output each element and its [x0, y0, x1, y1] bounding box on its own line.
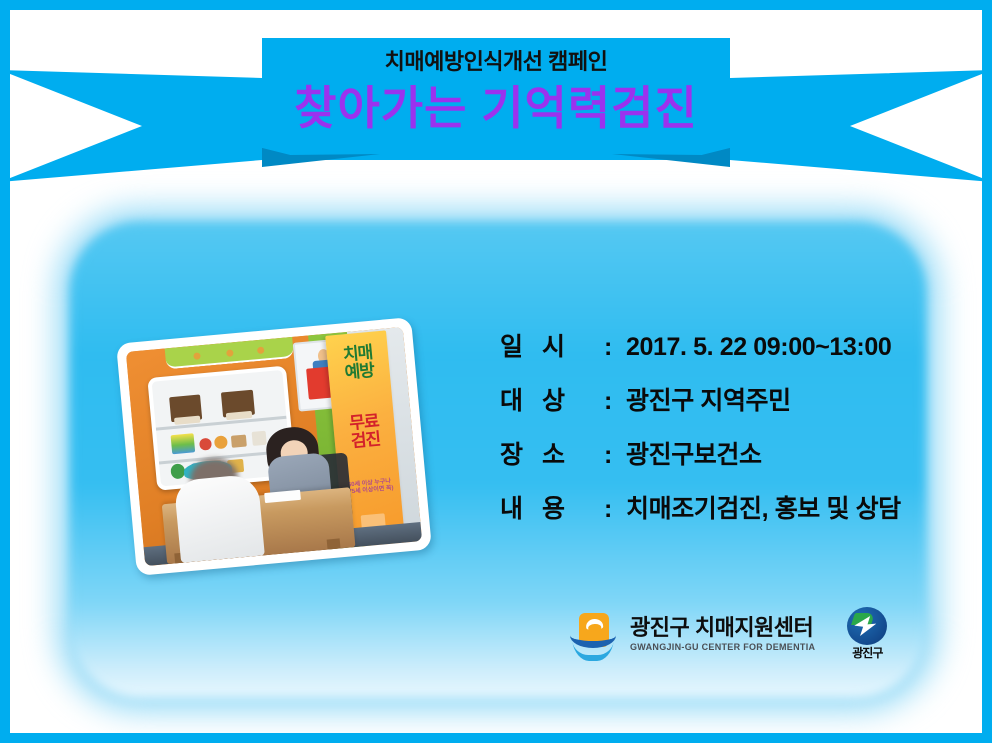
info-label-place: 장 소: [500, 435, 604, 471]
frame-top-edge: [0, 0, 992, 10]
info-value-date: 2017. 5. 22 09:00~13:00: [626, 333, 891, 362]
photo-banner-line1: 치매예방: [326, 343, 390, 384]
poster-root: 치매예방인식개선 캠페인 찾아가는 기억력검진: [0, 0, 992, 743]
info-colon: :: [604, 441, 626, 470]
info-value-place: 광진구보건소: [626, 435, 762, 471]
photo-banner-line2: 무료검진: [333, 411, 397, 452]
gwangjin-gu-label: 광진구: [843, 644, 891, 661]
info-row: 대 상 : 광진구 지역주민: [500, 381, 901, 417]
frame-bottom-edge: [0, 733, 992, 743]
info-colon: :: [604, 495, 626, 524]
info-row: 장 소 : 광진구보건소: [500, 435, 901, 471]
card-content: 치매예방 무료검진 60세 이상 누구나(75세 이상이면 꼭): [70, 222, 926, 698]
frame-right-edge: [982, 0, 992, 743]
frame-left-edge: [0, 0, 10, 743]
event-photo-frame: 치매예방 무료검진 60세 이상 누구나(75세 이상이면 꼭): [116, 317, 432, 576]
info-value-content: 치매조기검진, 홍보 및 상담: [626, 489, 901, 525]
logo-english-name: GWANGJIN-GU CENTER FOR DEMENTIA: [630, 642, 815, 652]
event-info-block: 일 시 : 2017. 5. 22 09:00~13:00 대 상 : 광진구 …: [500, 327, 901, 525]
photo-visitor-body: [174, 474, 264, 563]
info-value-target: 광진구 지역주민: [626, 381, 791, 417]
event-photo: 치매예방 무료검진 60세 이상 누구나(75세 이상이면 꼭): [126, 327, 422, 566]
info-label-target: 대 상: [500, 381, 604, 417]
gwangjin-gu-emblem-icon: 광진구: [843, 607, 891, 661]
logo-row: 광진구 치매지원센터 GWANGJIN-GU CENTER FOR DEMENT…: [570, 607, 891, 661]
info-row: 일 시 : 2017. 5. 22 09:00~13:00: [500, 327, 901, 363]
info-row: 내 용 : 치매조기검진, 홍보 및 상담: [500, 489, 901, 525]
info-colon: :: [604, 387, 626, 416]
info-colon: :: [604, 333, 626, 362]
logo-korean-name: 광진구 치매지원센터: [630, 616, 815, 640]
dementia-center-logo-icon: [570, 611, 616, 657]
ribbon-banner: [0, 30, 992, 190]
dementia-center-logo-text: 광진구 치매지원센터 GWANGJIN-GU CENTER FOR DEMENT…: [630, 616, 815, 652]
info-label-content: 내 용: [500, 489, 604, 525]
info-label-date: 일 시: [500, 327, 604, 363]
